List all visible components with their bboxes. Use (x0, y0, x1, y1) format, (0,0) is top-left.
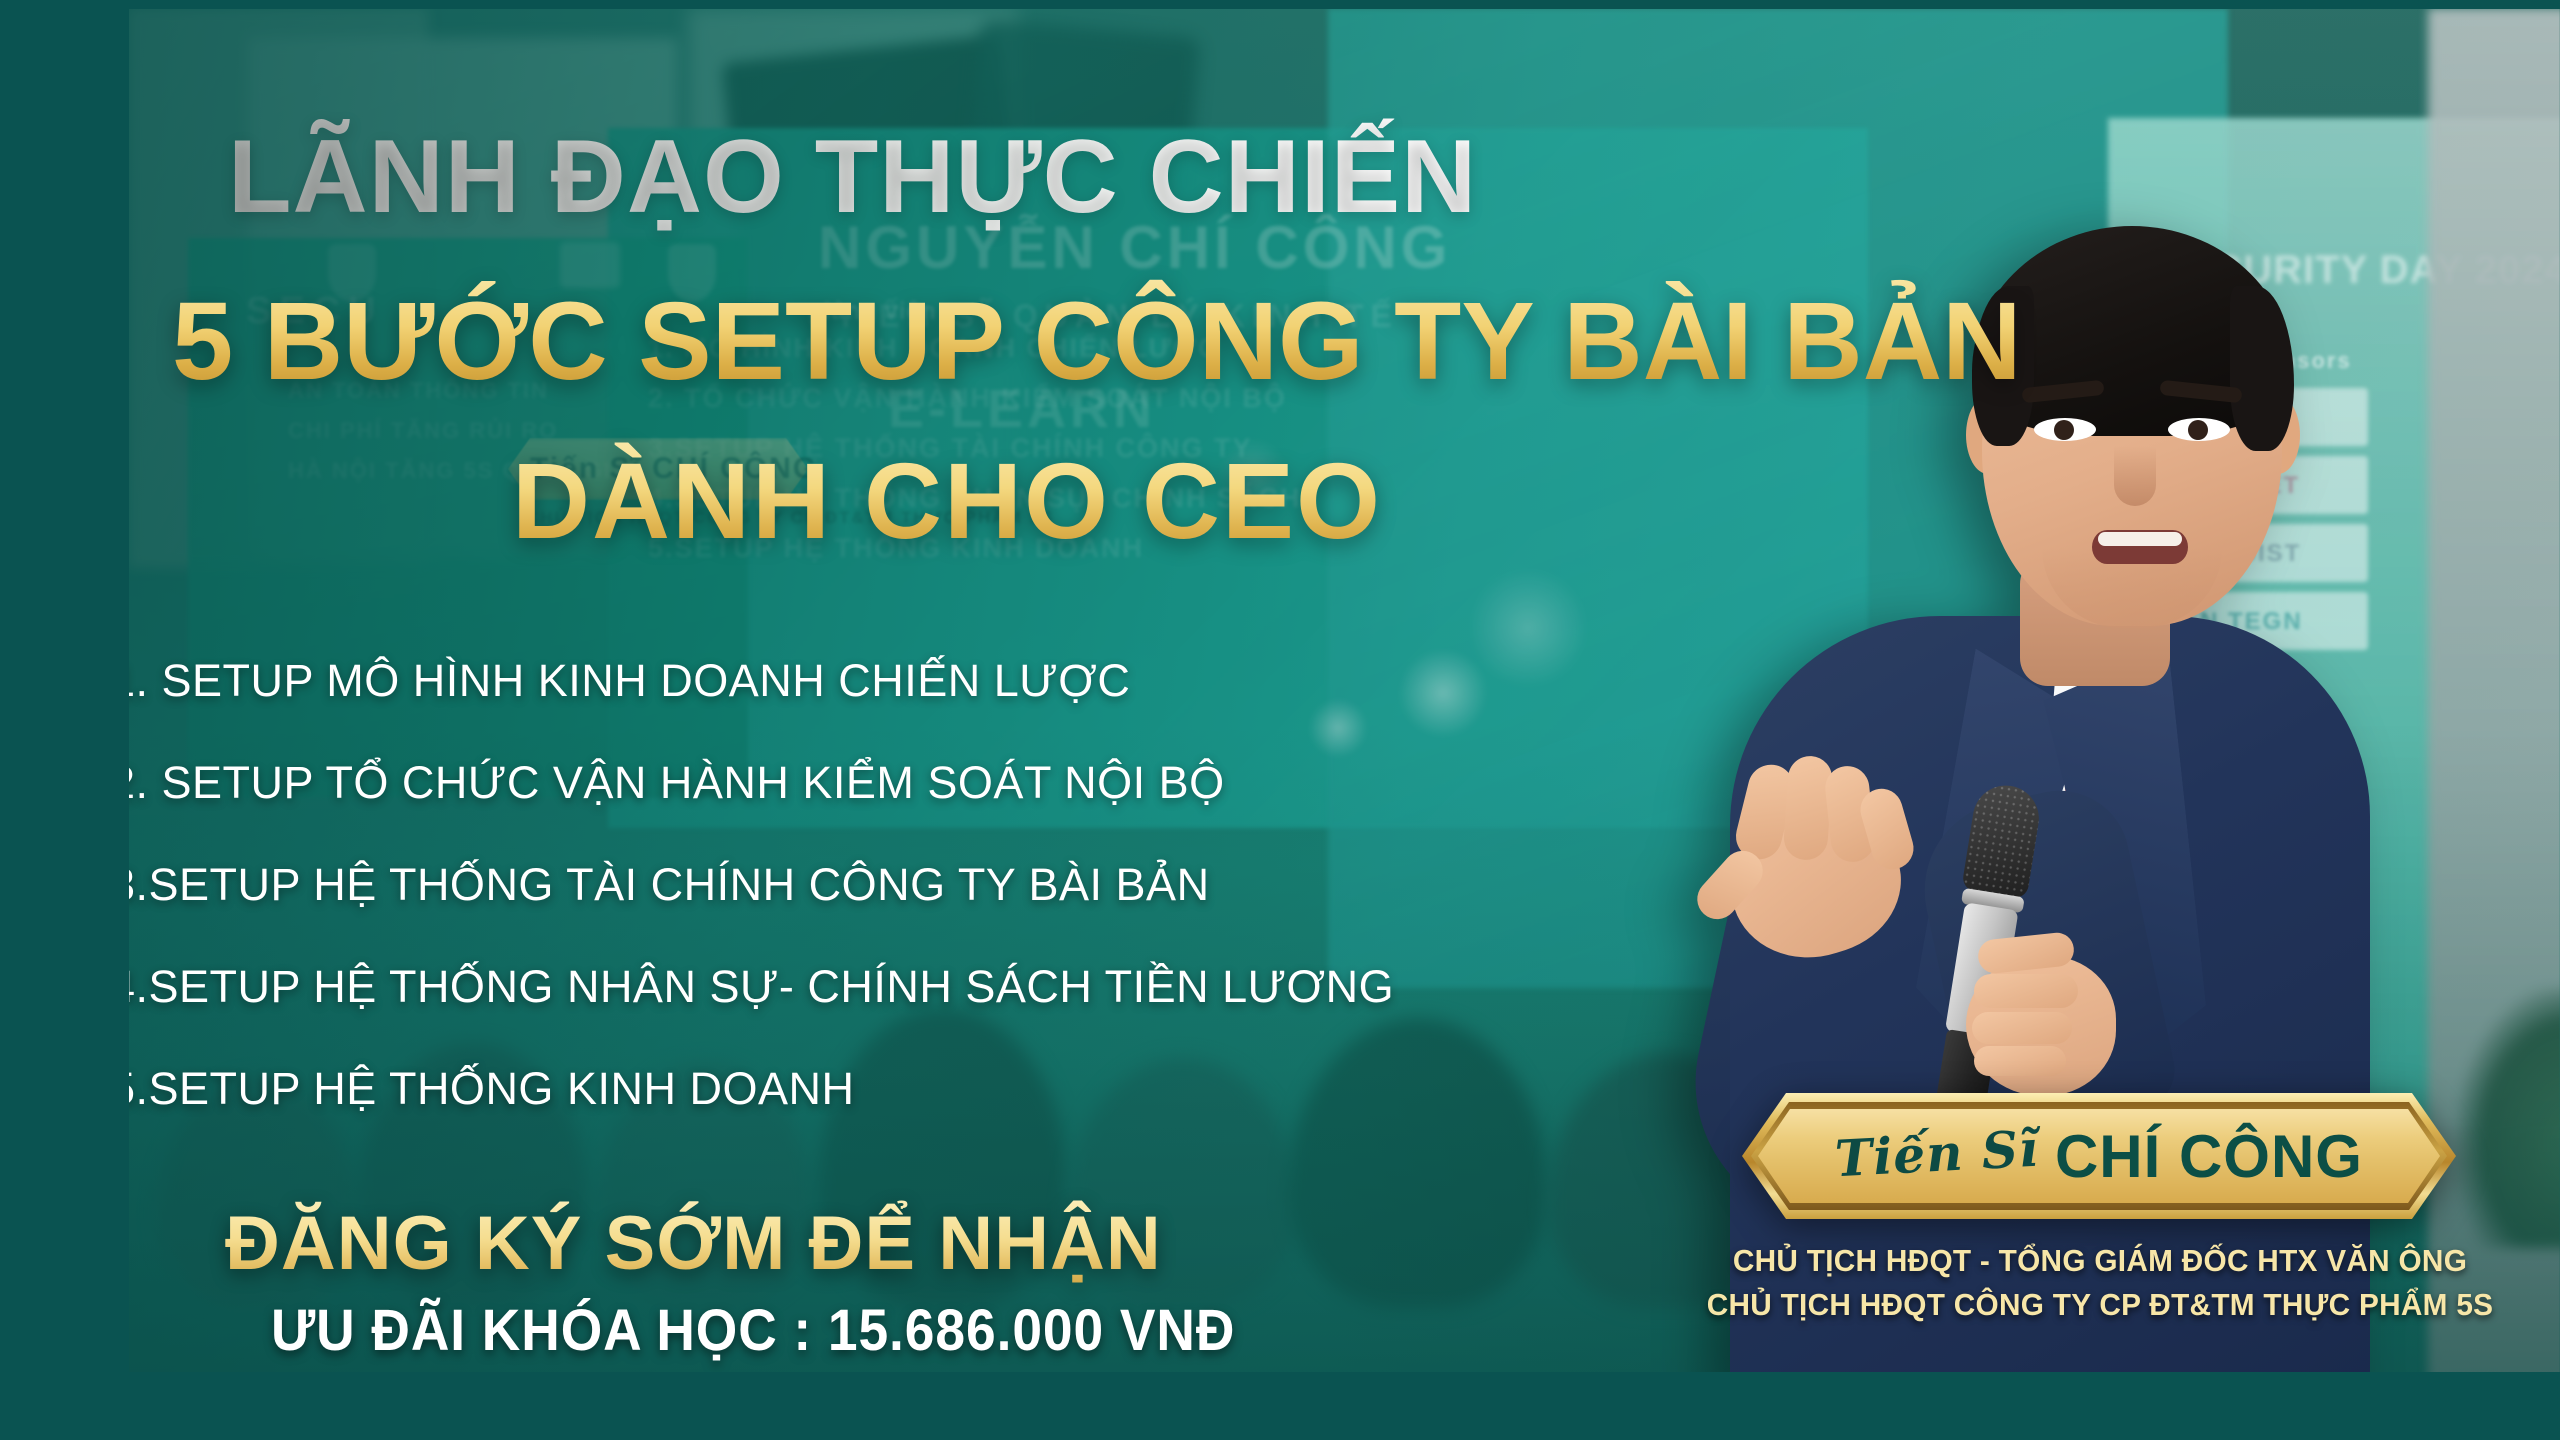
credits-block: CHỦ TỊCH HĐQT - TỔNG GIÁM ĐỐC HTX VĂN ÔN… (1640, 1243, 2560, 1331)
plaque-name: CHÍ CÔNG (2055, 1122, 2363, 1191)
promotional-poster: SECU AN TOÀN THÔNG TIN CHI PHÍ TĂNG RỦI … (0, 0, 2560, 1440)
list-item: 1. SETUP MÔ HÌNH KINH DOANH CHIẾN LƯỢC (110, 655, 1510, 707)
list-item: 4.SETUP HỆ THỐNG NHÂN SỰ- CHÍNH SÁCH TIỀ… (110, 961, 1510, 1013)
list-item: 5.SETUP HỆ THỐNG KINH DOANH (110, 1063, 1510, 1115)
frame-edge-left (0, 0, 129, 1440)
credit-line: CHỦ TỊCH HĐQT - TỔNG GIÁM ĐỐC HTX VĂN ÔN… (1658, 1243, 2541, 1279)
headline-secondary: DÀNH CHO CEO (512, 438, 1382, 563)
credit-line: CHỦ TỊCH HĐQT CÔNG TY CP ĐT&TM THỰC PHẨM… (1658, 1287, 2541, 1323)
poster-content: LÃNH ĐẠO THỰC CHIẾN 5 BƯỚC SETUP CÔNG TY… (0, 0, 2560, 1440)
cta-price: ƯU ĐÃI KHÓA HỌC : 15.686.000 VNĐ (271, 1297, 1235, 1380)
steps-list: 1. SETUP MÔ HÌNH KINH DOANH CHIẾN LƯỢC 2… (110, 655, 1510, 1165)
list-item: 3.SETUP HỆ THỐNG TÀI CHÍNH CÔNG TY BÀI B… (110, 859, 1510, 911)
page-title: LÃNH ĐẠO THỰC CHIẾN (228, 118, 1477, 237)
list-item: 2. SETUP TỔ CHỨC VẬN HÀNH KIỂM SOÁT NỘI … (110, 757, 1510, 809)
frame-edge-bottom (0, 1372, 2560, 1440)
plaque-title-script: Tiến Sĩ (1834, 1118, 2041, 1188)
plaque-inner: Tiến Sĩ CHÍ CÔNG (1758, 1109, 2440, 1203)
headline-primary: 5 BƯỚC SETUP CÔNG TY BÀI BẢN (172, 278, 2022, 405)
call-to-action: ĐĂNG KÝ SỚM ĐỂ NHẬN ƯU ĐÃI KHÓA HỌC : 15… (225, 1200, 1319, 1380)
cta-headline: ĐĂNG KÝ SỚM ĐỂ NHẬN (225, 1200, 1319, 1287)
name-plaque: Tiến Sĩ CHÍ CÔNG (1742, 1093, 2456, 1219)
frame-edge-top (0, 0, 2560, 9)
